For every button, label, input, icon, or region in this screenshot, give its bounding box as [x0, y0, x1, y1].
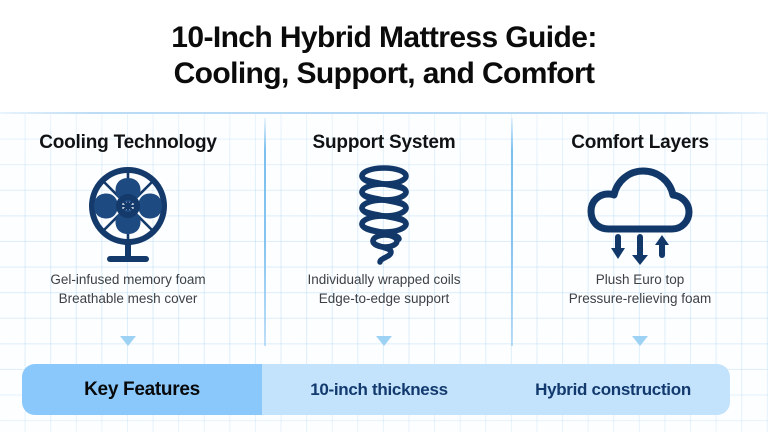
bottom-summary-bar: Key Features 10-inch thickness Hybrid co… [22, 364, 730, 415]
pointer-marker-cell-1 [0, 336, 256, 356]
pointer-marker-cell-2 [256, 336, 512, 356]
column-body-line-1: Plush Euro top [569, 270, 712, 289]
feature-column-cooling-technology: Cooling Technology [0, 114, 256, 344]
column-body-line-2: Breathable mesh cover [50, 289, 205, 308]
pointer-marker-row [0, 336, 768, 356]
column-body-comfort-layers: Plush Euro top Pressure-relieving foam [569, 270, 712, 308]
column-title-cooling-technology: Cooling Technology [39, 132, 217, 154]
page-title-line-1: 10-Inch Hybrid Mattress Guide: [171, 21, 596, 54]
column-title-support-system: Support System [313, 132, 456, 154]
feature-column-comfort-layers: Comfort Layers Plush [512, 114, 768, 344]
page-title-line-2: Cooling, Support, and Comfort [171, 56, 596, 92]
column-title-comfort-layers: Comfort Layers [571, 132, 709, 154]
fan-icon [0, 160, 256, 268]
feature-column-support-system: Support System [256, 114, 512, 344]
feature-columns: Cooling Technology [0, 114, 768, 344]
triangle-down-icon [120, 336, 136, 346]
coil-spring-icon [256, 160, 512, 268]
infographic-canvas: 10-Inch Hybrid Mattress Guide: Cooling, … [0, 0, 768, 432]
header: 10-Inch Hybrid Mattress Guide: Cooling, … [0, 0, 768, 113]
cloud-with-down-arrows-icon [512, 160, 768, 268]
page-title: 10-Inch Hybrid Mattress Guide: Cooling, … [141, 20, 626, 92]
pointer-marker-cell-3 [512, 336, 768, 356]
triangle-down-icon [376, 336, 392, 346]
column-body-line-1: Individually wrapped coils [307, 270, 460, 289]
column-body-line-2: Edge-to-edge support [307, 289, 460, 308]
column-body-support-system: Individually wrapped coils Edge-to-edge … [307, 270, 460, 308]
column-body-cooling-technology: Gel-infused memory foam Breathable mesh … [50, 270, 205, 308]
column-divider-1 [264, 118, 266, 346]
bar-segment-thickness[interactable]: 10-inch thickness [262, 364, 496, 415]
bar-segment-key-features[interactable]: Key Features [22, 364, 262, 415]
column-body-line-2: Pressure-relieving foam [569, 289, 712, 308]
bar-segment-construction[interactable]: Hybrid construction [496, 364, 730, 415]
triangle-down-icon [632, 336, 648, 346]
column-body-line-1: Gel-infused memory foam [50, 270, 205, 289]
column-divider-2 [511, 118, 513, 346]
